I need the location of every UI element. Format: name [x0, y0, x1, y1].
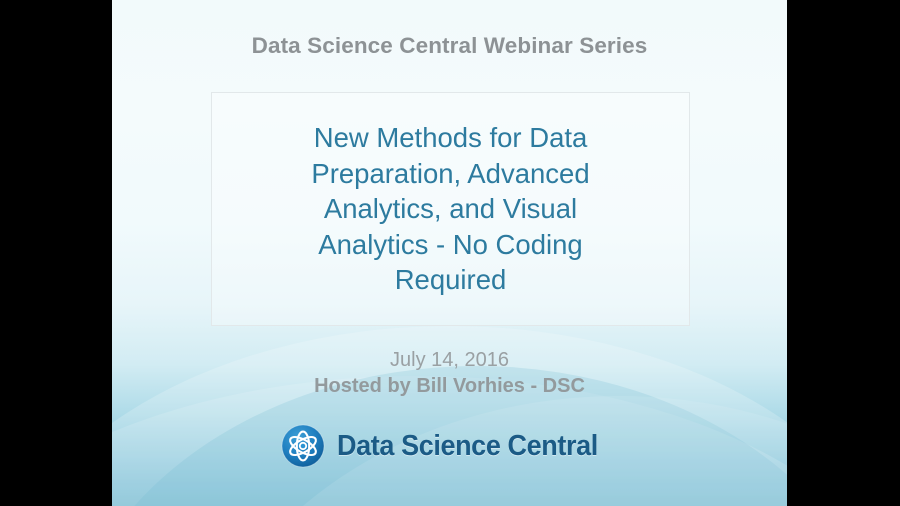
slide-title-line: Analytics - No Coding [251, 227, 651, 263]
presentation-slide: Data Science Central Webinar Series New … [112, 0, 787, 506]
slide-title-line: Preparation, Advanced [251, 156, 651, 192]
webinar-date: July 14, 2016 [112, 347, 787, 373]
slide-meta: July 14, 2016 Hosted by Bill Vorhies - D… [112, 347, 787, 399]
slide-title-line: Required [251, 262, 651, 298]
letterbox-left [0, 0, 112, 506]
title-panel: New Methods for Data Preparation, Advanc… [211, 92, 690, 326]
webinar-host: Hosted by Bill Vorhies - DSC [112, 373, 787, 399]
brand-wordmark: Data Science Central [337, 430, 598, 463]
atom-icon [281, 424, 325, 468]
webinar-series-header: Data Science Central Webinar Series [112, 33, 787, 59]
letterbox-right [787, 0, 900, 506]
slide-title-line: Analytics, and Visual [251, 191, 651, 227]
video-frame: Data Science Central Webinar Series New … [0, 0, 900, 506]
slide-content: Data Science Central Webinar Series New … [112, 0, 787, 506]
brand-logo: Data Science Central [112, 424, 787, 468]
slide-title-line: New Methods for Data [251, 120, 651, 156]
slide-title: New Methods for Data Preparation, Advanc… [251, 120, 651, 298]
